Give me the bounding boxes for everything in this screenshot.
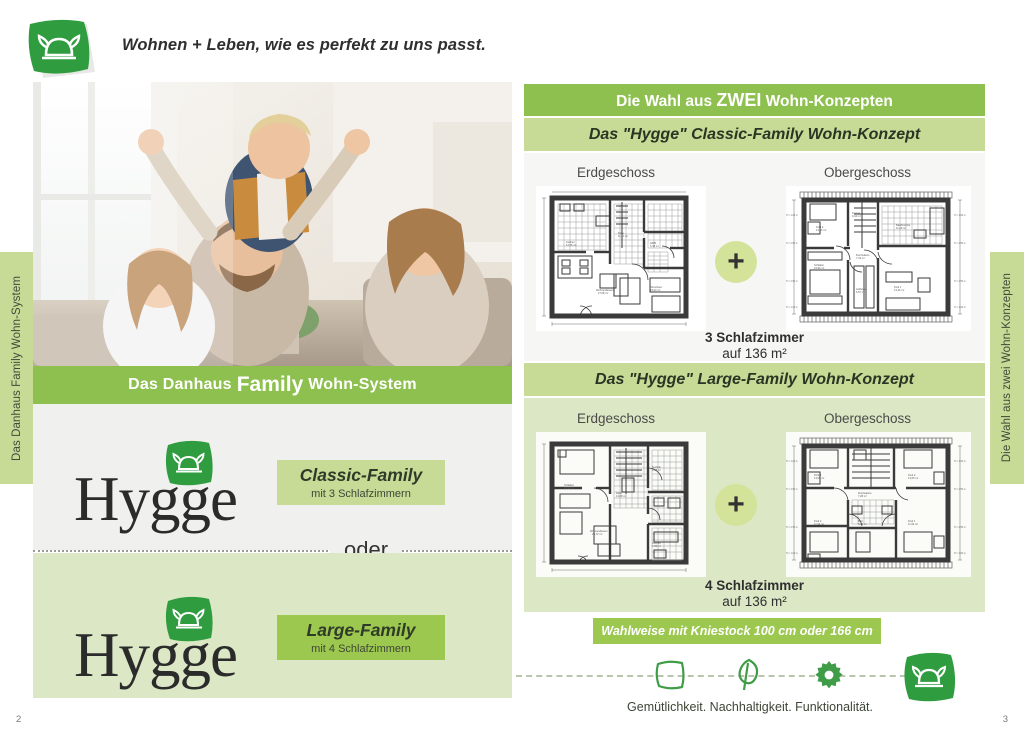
caption-classic: 3 Schlafzimmer auf 136 m²: [524, 330, 985, 361]
floor-label-upper-large: Obergeschoss: [824, 411, 911, 426]
hygge-wordmark-classic: Hygge: [74, 440, 264, 532]
side-tab-right-label: Die Wahl aus zwei Wohn-Konzepten: [1001, 273, 1013, 462]
family-system-band: Das Danhaus Family Wohn-System: [33, 366, 512, 404]
concepts-main-header: Die Wahl aus ZWEI Wohn-Konzepten: [524, 84, 985, 116]
svg-text:15,96 m²: 15,96 m²: [814, 266, 824, 270]
svg-text:H = 1,00 m: H = 1,00 m: [786, 552, 798, 555]
gear-icon: [815, 661, 843, 694]
concept-header-large: Das "Hygge" Large-Family Wohn-Konzept: [524, 363, 985, 396]
caption-large-line1: 4 Schlafzimmer: [524, 578, 985, 593]
svg-text:9,44 m²: 9,44 m²: [852, 214, 861, 218]
svg-text:13,05 m²: 13,05 m²: [814, 476, 824, 480]
side-tab-left: Das Danhaus Family Wohn-System: [0, 252, 34, 484]
kniestock-banner-label: Wahlweise mit Kniestock 100 cm oder 166 …: [601, 624, 872, 638]
svg-text:11,21 m²: 11,21 m²: [618, 234, 628, 238]
svg-text:H = 1,00 m: H = 1,00 m: [954, 460, 966, 463]
floorplan-classic-ground: Kochen12,65 m² Diele11,21 m² Wohnen/Esse…: [536, 186, 706, 331]
chip-title-large: Large-Family: [307, 620, 416, 641]
svg-text:H = 2,50 m: H = 2,50 m: [954, 280, 966, 283]
svg-text:H = 1,00 m: H = 1,00 m: [954, 552, 966, 555]
pillow-viking-helmet-logo: [160, 438, 217, 488]
chip-subtitle-large: mit 4 Schlafzimmern: [311, 643, 411, 655]
plus-icon: +: [727, 490, 745, 520]
svg-text:H = 2,50 m: H = 2,50 m: [786, 280, 798, 283]
svg-text:28,72 m²: 28,72 m²: [592, 532, 602, 536]
family-photo: [33, 82, 512, 366]
page-number-right: 3: [1003, 714, 1008, 725]
svg-text:13,66 m²: 13,66 m²: [816, 228, 826, 232]
floor-label-lower-large: Erdgeschoss: [577, 411, 655, 426]
svg-text:H = 2,50 m: H = 2,50 m: [786, 242, 798, 245]
footer-tagline: Gemütlichkeit. Nachhaltigkeit. Funktiona…: [600, 700, 900, 714]
svg-text:H = 1,00 m: H = 1,00 m: [786, 214, 798, 217]
option-divider: [33, 550, 512, 552]
kniestock-banner: Wahlweise mit Kniestock 100 cm oder 166 …: [593, 618, 881, 644]
floorplan-large-upper: Kind 413,05 m² Kind 313,05 m² Flur/Galer…: [786, 432, 971, 577]
option-chip-classic[interactable]: Classic-Family mit 3 Schlafzimmern: [277, 460, 445, 505]
svg-text:7,28 m²: 7,28 m²: [858, 494, 867, 498]
pillow-viking-helmet-logo: [160, 594, 217, 644]
pillow-viking-helmet-logo: [898, 650, 960, 709]
brochure-page: Wohnen + Leben, wie es perfekt zu uns pa…: [0, 0, 1024, 739]
floorplan-classic-upper: Kind 213,66 m² Treppe9,44 m² Flur/Galeri…: [786, 186, 971, 331]
pillow-viking-helmet-logo: [22, 17, 96, 79]
floor-label-lower-classic: Erdgeschoss: [577, 165, 655, 180]
band-prefix: Das Danhaus: [128, 376, 232, 394]
main-header-pre: Die Wahl aus: [616, 93, 716, 110]
chip-subtitle-classic: mit 3 Schlafzimmern: [311, 488, 411, 500]
main-header-post: Wohn-Konzepten: [761, 93, 892, 110]
page-number-left: 2: [16, 714, 21, 725]
svg-text:13,46 m²: 13,46 m²: [894, 288, 904, 292]
concept-header-classic-label: Das "Hygge" Classic-Family Wohn-Konzept: [589, 126, 920, 144]
svg-text:27,08 m²: 27,08 m²: [598, 291, 608, 295]
svg-text:H = 2,50 m: H = 2,50 m: [954, 488, 966, 491]
svg-text:11,09 m²: 11,09 m²: [896, 226, 906, 230]
svg-text:7,44 m²: 7,44 m²: [856, 256, 865, 260]
svg-text:H = 2,50 m: H = 2,50 m: [954, 526, 966, 529]
plus-icon: +: [727, 247, 745, 277]
chip-title-classic: Classic-Family: [300, 465, 423, 486]
svg-text:5,48 m²: 5,48 m²: [650, 244, 659, 248]
footer-dashed-line: [516, 675, 916, 677]
svg-text:7,35 m²: 7,35 m²: [652, 544, 661, 548]
svg-text:H = 2,50 m: H = 2,50 m: [786, 526, 798, 529]
svg-text:4,58 m²: 4,58 m²: [652, 468, 661, 472]
svg-text:13,02 m²: 13,02 m²: [564, 486, 574, 490]
svg-text:8,16 m²: 8,16 m²: [858, 522, 867, 526]
hygge-wordmark-large: Hygge: [74, 596, 264, 688]
band-suffix: Wohn-System: [308, 376, 417, 394]
main-header-emphasis: ZWEI: [716, 90, 761, 110]
svg-text:11,94 m²: 11,94 m²: [908, 522, 918, 526]
pillow-outline-icon: [653, 659, 687, 696]
svg-text:13,08 m²: 13,08 m²: [616, 494, 626, 498]
plus-badge-large: +: [715, 484, 757, 526]
svg-text:H = 2,50 m: H = 2,50 m: [954, 242, 966, 245]
svg-text:11,94 m²: 11,94 m²: [814, 522, 824, 526]
svg-text:H = 1,00 m: H = 1,00 m: [954, 214, 966, 217]
side-tab-right: Die Wahl aus zwei Wohn-Konzepten: [990, 252, 1024, 484]
floor-label-upper-classic: Obergeschoss: [824, 165, 911, 180]
svg-text:6,57 m²: 6,57 m²: [856, 290, 865, 294]
option-chip-large[interactable]: Large-Family mit 4 Schlafzimmern: [277, 615, 445, 660]
plus-badge-classic: +: [715, 241, 757, 283]
svg-text:13,05 m²: 13,05 m²: [908, 476, 918, 480]
svg-text:H = 2,50 m: H = 2,50 m: [786, 488, 798, 491]
caption-classic-line1: 3 Schlafzimmer: [524, 330, 985, 345]
page-title: Wohnen + Leben, wie es perfekt zu uns pa…: [122, 36, 486, 55]
concept-header-classic: Das "Hygge" Classic-Family Wohn-Konzept: [524, 118, 985, 151]
svg-text:12,65 m²: 12,65 m²: [566, 243, 576, 247]
floorplan-large-ground: Schlafen13,02 m² Diele13,08 m² Wohnen/Es…: [536, 432, 706, 577]
side-tab-left-label: Das Danhaus Family Wohn-System: [11, 276, 23, 461]
caption-large-line2: auf 136 m²: [524, 594, 985, 609]
concept-header-large-label: Das "Hygge" Large-Family Wohn-Konzept: [595, 371, 914, 389]
band-emphasis: Family: [237, 373, 304, 397]
svg-text:H = 1,00 m: H = 1,00 m: [786, 460, 798, 463]
svg-text:15,00 m²: 15,00 m²: [650, 288, 660, 292]
svg-text:H = 1,00 m: H = 1,00 m: [786, 306, 798, 309]
leaf-icon: [735, 657, 761, 696]
caption-classic-line2: auf 136 m²: [524, 346, 985, 361]
svg-text:H = 1,00 m: H = 1,00 m: [954, 306, 966, 309]
caption-large: 4 Schlafzimmer auf 136 m²: [524, 578, 985, 609]
